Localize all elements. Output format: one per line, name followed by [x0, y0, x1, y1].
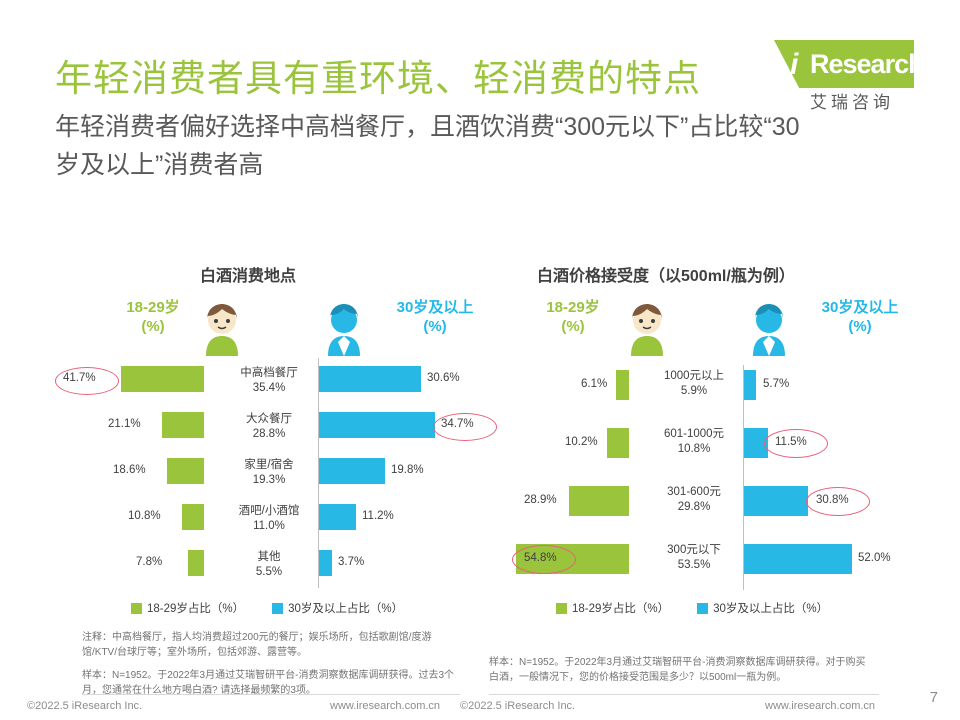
left-value-blue-2: 19.8% — [391, 464, 424, 476]
left-value-blue-4: 3.7% — [338, 556, 364, 568]
left-category-2-value: 19.3% — [253, 474, 286, 486]
right-value-blue-0: 5.7% — [763, 378, 789, 390]
left-legend-green: 18-29岁占比（%） — [131, 600, 244, 616]
left-category-3-value: 11.0% — [253, 520, 285, 532]
left-group-old-label: 30岁及以上 (%) — [370, 298, 500, 336]
right-legend-green-swatch — [556, 603, 567, 614]
left-value-green-3: 10.8% — [128, 510, 161, 522]
right-category-0-value: 5.9% — [681, 385, 707, 397]
left-value-blue-0: 30.6% — [427, 372, 460, 384]
right-category-1-value: 10.8% — [678, 443, 711, 455]
left-category-0: 中高档餐厅 35.4% — [204, 366, 334, 396]
left-legend-blue-label: 30岁及以上占比（%） — [288, 600, 403, 616]
right-category-0-name: 1000元以上 — [664, 370, 724, 382]
left-category-4-name: 其他 — [258, 551, 281, 563]
right-group-old-unit: (%) — [848, 318, 871, 335]
left-highlight-ellipse-1 — [433, 413, 497, 441]
right-group-young-unit: (%) — [561, 318, 584, 335]
right-value-green-0: 6.1% — [581, 378, 607, 390]
right-legend-blue-label: 30岁及以上占比（%） — [713, 600, 828, 616]
right-bar-green-2 — [569, 486, 629, 516]
left-category-2-name: 家里/宿舍 — [244, 459, 293, 471]
footer-site-left: www.iresearch.com.cn — [330, 700, 440, 712]
left-bar-green-3 — [182, 504, 204, 530]
right-legend-green: 18-29岁占比（%） — [556, 600, 669, 616]
iresearch-logo: i Research 艾瑞咨询 — [774, 40, 914, 112]
left-category-3-name: 酒吧/小酒馆 — [239, 505, 300, 517]
right-category-3: 300元以下 53.5% — [629, 543, 759, 573]
page-subtitle: 年轻消费者偏好选择中高档餐厅，且酒饮消费“300元以下”占比较“30岁及以上”消… — [55, 108, 815, 184]
logo-chinese-name: 艾瑞咨询 — [810, 88, 894, 113]
left-category-1-value: 28.8% — [253, 428, 286, 440]
left-footnote: 注释：中高档餐厅，指人均消费超过200元的餐厅；娱乐场所，包括歌剧馆/度游馆/K… — [82, 630, 452, 660]
right-bar-blue-2 — [744, 486, 808, 516]
left-category-2: 家里/宿舍 19.3% — [204, 458, 334, 488]
right-sample-note: 样本：N=1952。于2022年3月通过艾瑞智研平台-消费洞察数据库调研获得。对… — [489, 655, 869, 685]
right-group-old-label: 30岁及以上 (%) — [795, 298, 925, 336]
right-category-1: 601-1000元 10.8% — [629, 427, 759, 457]
right-category-2-value: 29.8% — [678, 501, 711, 513]
left-legend-blue: 30岁及以上占比（%） — [272, 600, 403, 616]
left-value-blue-3: 11.2% — [362, 510, 394, 522]
old-avatar-icon — [320, 300, 368, 356]
right-category-3-name: 300元以下 — [667, 544, 721, 556]
footer-copyright-left: ©2022.5 iResearch Inc. — [27, 700, 142, 712]
right-category-0: 1000元以上 5.9% — [629, 369, 759, 399]
right-young-avatar-icon — [623, 300, 671, 356]
right-value-green-1: 10.2% — [565, 436, 598, 448]
left-category-1-name: 大众餐厅 — [246, 413, 292, 425]
left-category-4: 其他 5.5% — [204, 550, 334, 580]
left-group-young-label: 18-29岁 (%) — [98, 298, 208, 336]
left-value-green-4: 7.8% — [136, 556, 162, 568]
left-value-green-2: 18.6% — [113, 464, 146, 476]
right-legend-blue-swatch — [697, 603, 708, 614]
right-legend-blue: 30岁及以上占比（%） — [697, 600, 828, 616]
footer-copyright-right: ©2022.5 iResearch Inc. — [460, 700, 575, 712]
left-bar-blue-3 — [319, 504, 356, 530]
left-category-4-value: 5.5% — [256, 566, 282, 578]
right-divider — [489, 694, 879, 695]
right-chart-title: 白酒价格接受度（以500ml/瓶为例） — [537, 262, 795, 286]
left-category-0-value: 35.4% — [253, 382, 286, 394]
left-bar-blue-2 — [319, 458, 385, 484]
right-group-young-label: 18-29岁 (%) — [523, 298, 623, 336]
left-value-green-1: 21.1% — [108, 418, 141, 430]
logo-wordmark: Research — [810, 49, 924, 80]
right-group-young-text: 18-29岁 — [546, 299, 599, 316]
right-value-blue-3: 52.0% — [858, 552, 891, 564]
left-group-old-unit: (%) — [423, 318, 446, 335]
right-category-2: 301-600元 29.8% — [629, 485, 759, 515]
left-bar-green-2 — [167, 458, 204, 484]
right-bar-blue-0 — [744, 370, 756, 400]
left-group-young-unit: (%) — [141, 318, 164, 335]
right-old-avatar-icon — [745, 300, 793, 356]
right-value-green-2: 28.9% — [524, 494, 557, 506]
left-category-3: 酒吧/小酒馆 11.0% — [204, 504, 334, 534]
left-group-old-text: 30岁及以上 — [397, 299, 474, 316]
page-title: 年轻消费者具有重环境、轻消费的特点 — [55, 48, 701, 102]
right-bar-blue-3 — [744, 544, 852, 574]
right-legend-green-label: 18-29岁占比（%） — [572, 600, 669, 616]
left-bar-blue-4 — [319, 550, 332, 576]
footer-site-right: www.iresearch.com.cn — [765, 700, 875, 712]
page-number: 7 — [930, 689, 938, 706]
right-category-2-name: 301-600元 — [667, 486, 721, 498]
right-bar-green-0 — [616, 370, 629, 400]
right-highlight-ellipse-1 — [764, 429, 828, 458]
left-bar-blue-0 — [319, 366, 421, 392]
left-group-young-text: 18-29岁 — [126, 299, 179, 316]
left-bar-blue-1 — [319, 412, 435, 438]
right-highlight-ellipse-0 — [512, 545, 576, 574]
right-category-3-value: 53.5% — [678, 559, 711, 571]
young-avatar-icon — [198, 300, 246, 356]
left-legend-blue-swatch — [272, 603, 283, 614]
left-bar-green-0 — [121, 366, 204, 392]
left-legend-green-swatch — [131, 603, 142, 614]
left-chart-legend: 18-29岁占比（%） 30岁及以上占比（%） — [131, 600, 425, 616]
left-chart-title: 白酒消费地点 — [200, 262, 296, 286]
left-category-1: 大众餐厅 28.8% — [204, 412, 334, 442]
left-highlight-ellipse-0 — [55, 367, 119, 395]
left-divider — [82, 694, 460, 695]
left-bar-green-4 — [188, 550, 204, 576]
right-group-old-text: 30岁及以上 — [822, 299, 899, 316]
logo-letter-i: i — [790, 48, 798, 82]
right-bar-green-1 — [607, 428, 629, 458]
left-legend-green-label: 18-29岁占比（%） — [147, 600, 244, 616]
left-bar-green-1 — [162, 412, 204, 438]
right-chart-legend: 18-29岁占比（%） 30岁及以上占比（%） — [556, 600, 850, 616]
right-highlight-ellipse-2 — [806, 487, 870, 516]
left-category-0-name: 中高档餐厅 — [240, 367, 298, 379]
right-category-1-name: 601-1000元 — [664, 428, 724, 440]
